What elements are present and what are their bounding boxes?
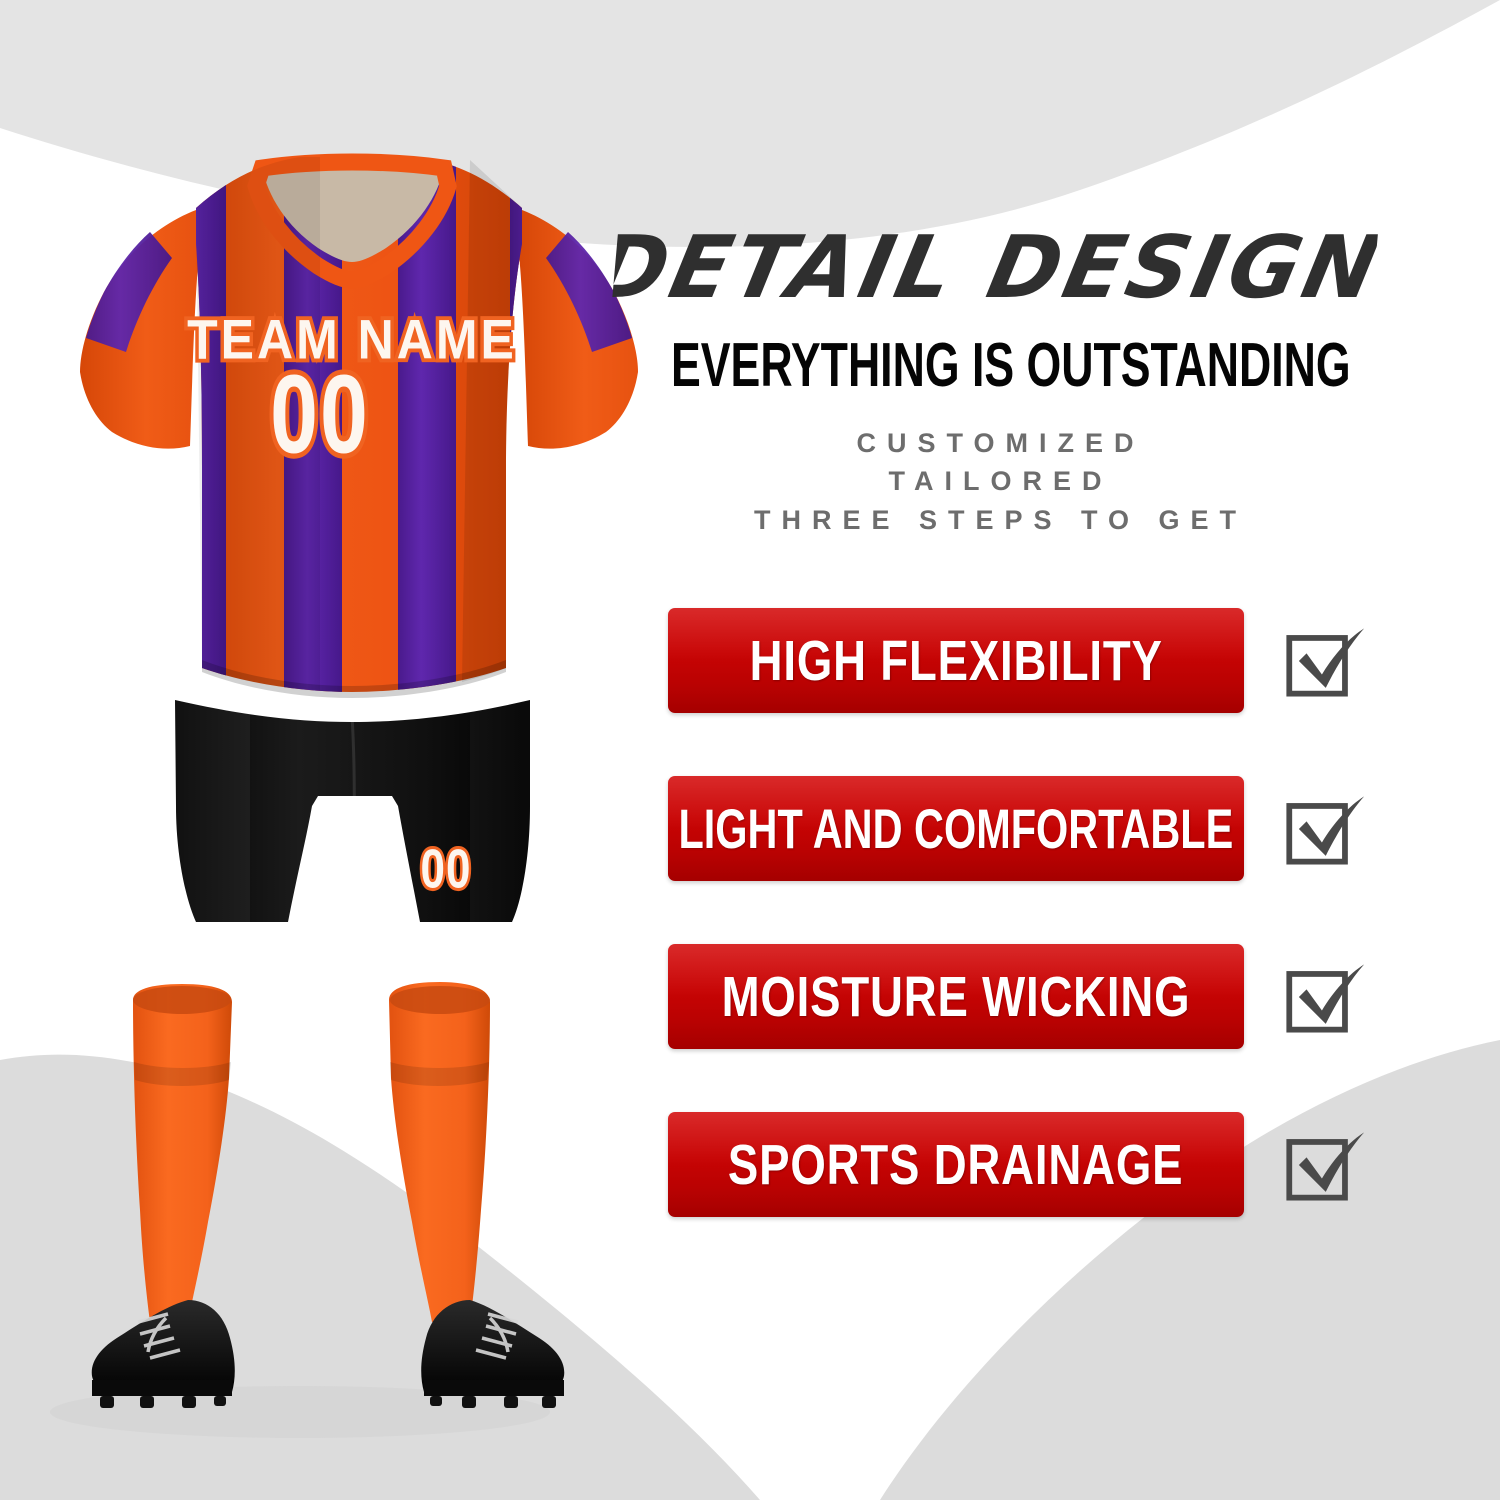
checkbox-checked-icon[interactable] xyxy=(1272,613,1368,709)
checkbox-checked-icon[interactable] xyxy=(1272,781,1368,877)
feature-list: HIGH FLEXIBILITY LIGHT AND COMFORTABLE M… xyxy=(668,608,1368,1280)
jersey-number: 00 xyxy=(270,353,370,477)
shoe-left-studs xyxy=(100,1396,226,1408)
tagline-group: CUSTOMIZED TAILORED THREE STEPS TO GET xyxy=(545,424,1445,539)
sock-left xyxy=(133,984,232,1322)
shoe-left-sole xyxy=(92,1380,232,1396)
feature-banner-moisture-wicking[interactable]: MOISTURE WICKING xyxy=(668,944,1244,1049)
tagline-1: CUSTOMIZED xyxy=(545,424,1445,462)
feature-banner-high-flexibility[interactable]: HIGH FLEXIBILITY xyxy=(668,608,1244,713)
checkbox-checked-icon[interactable] xyxy=(1272,1117,1368,1213)
feature-label: LIGHT AND COMFORTABLE xyxy=(679,796,1234,861)
shoe-right-studs xyxy=(430,1396,556,1408)
shorts-number: 00 xyxy=(421,838,472,900)
feature-label: HIGH FLEXIBILITY xyxy=(749,628,1162,694)
tagline-3: THREE STEPS TO GET xyxy=(545,501,1445,539)
jersey-shadow-right xyxy=(462,160,522,682)
sock-right-opening xyxy=(390,986,490,1014)
cleats xyxy=(92,1300,565,1408)
feature-label: MOISTURE WICKING xyxy=(722,964,1191,1030)
shorts: 00 xyxy=(175,690,540,940)
sock-right xyxy=(389,982,490,1322)
feature-label: SPORTS DRAINAGE xyxy=(728,1132,1183,1198)
headline-text: DETAIL DESIGN xyxy=(610,217,1380,318)
feature-banner-light-and-comfortable[interactable]: LIGHT AND COMFORTABLE xyxy=(668,776,1244,881)
feature-row: MOISTURE WICKING xyxy=(668,944,1368,1049)
feature-row: LIGHT AND COMFORTABLE xyxy=(668,776,1368,881)
feature-row: SPORTS DRAINAGE xyxy=(668,1112,1368,1217)
checkbox-checked-icon[interactable] xyxy=(1272,949,1368,1045)
headline-brush-text: DETAIL DESIGN xyxy=(610,215,1380,325)
feature-row: HIGH FLEXIBILITY xyxy=(668,608,1368,713)
page-subtitle: EVERYTHING IS OUTSTANDING xyxy=(671,333,1319,398)
marketing-banner: TEAM NAME 00 00 xyxy=(0,0,1500,1500)
socks xyxy=(133,982,490,1322)
text-column: DETAIL DESIGN EVERYTHING IS OUTSTANDING … xyxy=(545,215,1445,539)
feature-banner-sports-drainage[interactable]: SPORTS DRAINAGE xyxy=(668,1112,1244,1217)
page-title: DETAIL DESIGN xyxy=(540,215,1449,319)
tagline-2: TAILORED xyxy=(545,462,1445,500)
shoe-right-sole xyxy=(424,1380,564,1396)
sock-left-opening xyxy=(133,986,231,1014)
